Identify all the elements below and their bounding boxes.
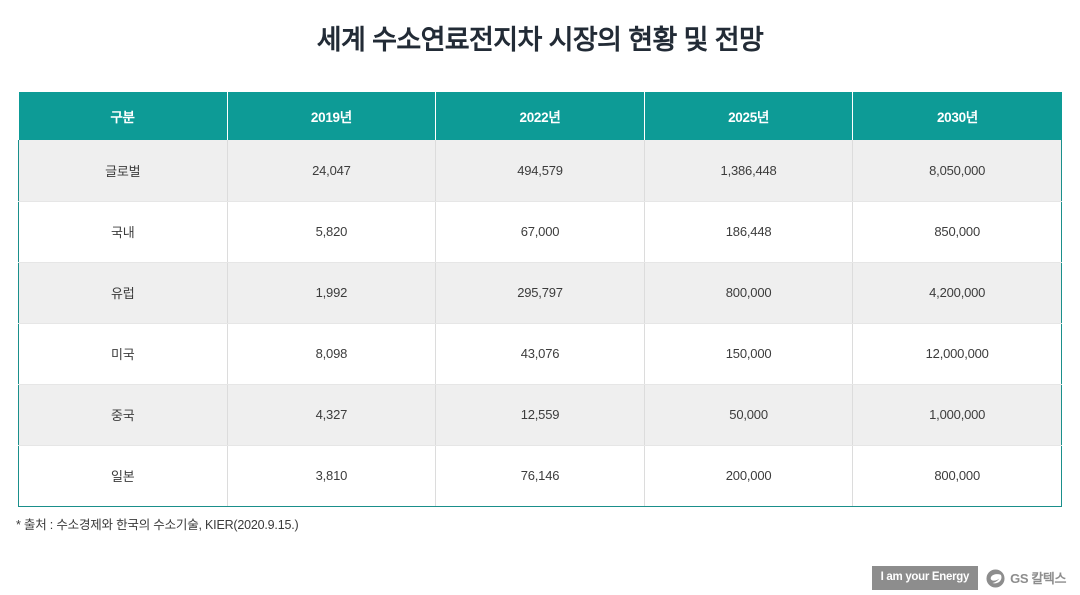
table-row: 일본 3,810 76,146 200,000 800,000: [19, 445, 1062, 506]
cell-china-2025: 50,000: [644, 384, 853, 445]
row-label-usa: 미국: [19, 323, 228, 384]
cell-china-2030: 1,000,000: [853, 384, 1062, 445]
row-label-japan: 일본: [19, 445, 228, 506]
table-row: 국내 5,820 67,000 186,448 850,000: [19, 201, 1062, 262]
market-table-container: 구분 2019년 2022년 2025년 2030년 글로벌 24,047 49…: [18, 92, 1062, 507]
cell-domestic-2019: 5,820: [227, 201, 436, 262]
cell-japan-2025: 200,000: [644, 445, 853, 506]
row-label-global: 글로벌: [19, 140, 228, 201]
row-label-europe: 유럽: [19, 262, 228, 323]
table-row: 유럽 1,992 295,797 800,000 4,200,000: [19, 262, 1062, 323]
cell-global-2022: 494,579: [436, 140, 645, 201]
market-data-table: 구분 2019년 2022년 2025년 2030년 글로벌 24,047 49…: [18, 92, 1062, 507]
brand-logo: I am your Energy GS 칼텍스: [872, 566, 1072, 590]
column-header-2025: 2025년: [644, 92, 853, 140]
cell-europe-2019: 1,992: [227, 262, 436, 323]
cell-japan-2030: 800,000: [853, 445, 1062, 506]
gs-circle-swoosh-icon: [986, 569, 1005, 588]
table-row: 글로벌 24,047 494,579 1,386,448 8,050,000: [19, 140, 1062, 201]
table-header: 구분 2019년 2022년 2025년 2030년: [19, 92, 1062, 140]
cell-europe-2030: 4,200,000: [853, 262, 1062, 323]
column-header-category: 구분: [19, 92, 228, 140]
cell-china-2022: 12,559: [436, 384, 645, 445]
table-row: 중국 4,327 12,559 50,000 1,000,000: [19, 384, 1062, 445]
cell-japan-2019: 3,810: [227, 445, 436, 506]
source-note: * 출처 : 수소경제와 한국의 수소기술, KIER(2020.9.15.): [16, 514, 298, 533]
cell-usa-2019: 8,098: [227, 323, 436, 384]
slide-page: 세계 수소연료전지차 시장의 현황 및 전망 구분 2019년 2022년 20…: [0, 0, 1080, 595]
gs-caltex-wordmark: GS 칼텍스: [1010, 572, 1066, 585]
page-title: 세계 수소연료전지차 시장의 현황 및 전망: [0, 0, 1080, 56]
cell-japan-2022: 76,146: [436, 445, 645, 506]
table-body: 글로벌 24,047 494,579 1,386,448 8,050,000 국…: [19, 140, 1062, 506]
cell-domestic-2025: 186,448: [644, 201, 853, 262]
cell-europe-2022: 295,797: [436, 262, 645, 323]
table-row: 미국 8,098 43,076 150,000 12,000,000: [19, 323, 1062, 384]
gs-caltex-logo: GS 칼텍스: [978, 566, 1072, 590]
cell-europe-2025: 800,000: [644, 262, 853, 323]
column-header-2019: 2019년: [227, 92, 436, 140]
cell-usa-2025: 150,000: [644, 323, 853, 384]
table-header-row: 구분 2019년 2022년 2025년 2030년: [19, 92, 1062, 140]
column-header-2022: 2022년: [436, 92, 645, 140]
cell-global-2025: 1,386,448: [644, 140, 853, 201]
cell-domestic-2022: 67,000: [436, 201, 645, 262]
cell-domestic-2030: 850,000: [853, 201, 1062, 262]
cell-global-2019: 24,047: [227, 140, 436, 201]
slogan-badge: I am your Energy: [872, 566, 979, 590]
cell-usa-2030: 12,000,000: [853, 323, 1062, 384]
row-label-china: 중국: [19, 384, 228, 445]
cell-usa-2022: 43,076: [436, 323, 645, 384]
cell-global-2030: 8,050,000: [853, 140, 1062, 201]
column-header-2030: 2030년: [853, 92, 1062, 140]
row-label-domestic: 국내: [19, 201, 228, 262]
cell-china-2019: 4,327: [227, 384, 436, 445]
